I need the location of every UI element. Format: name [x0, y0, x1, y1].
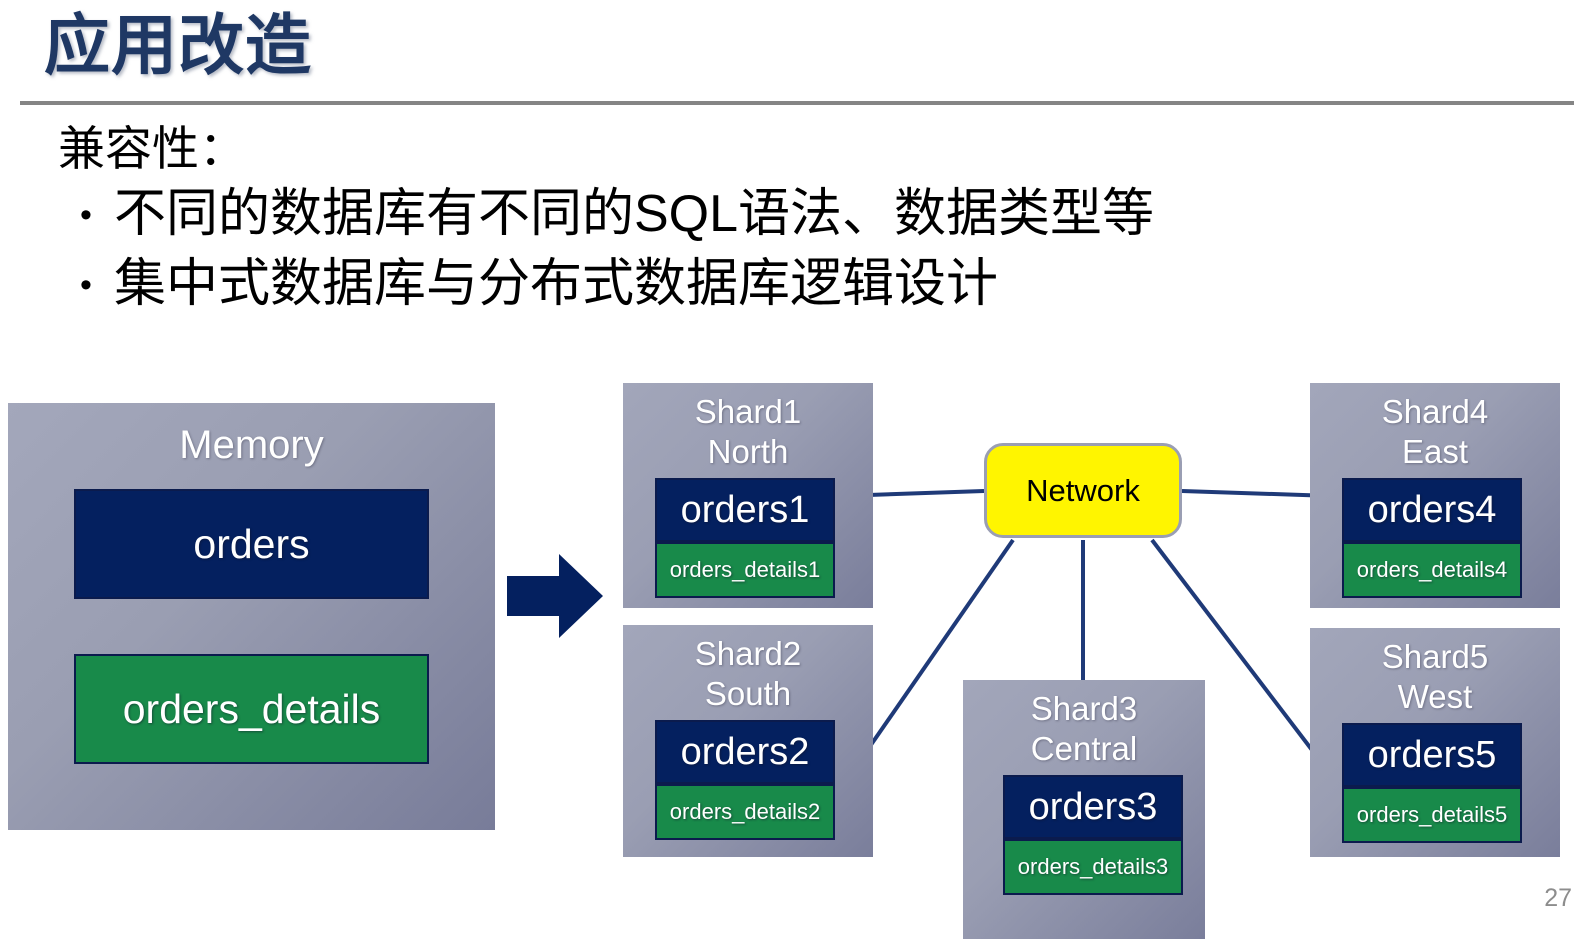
shard-box-shard5: Shard5 West orders5 orders_details5 — [1310, 628, 1560, 857]
table-orders-details4: orders_details4 — [1342, 542, 1522, 598]
table-orders-details: orders_details — [74, 654, 429, 764]
table-orders-details3: orders_details3 — [1003, 839, 1183, 895]
shard5-title: Shard5 — [1310, 628, 1560, 677]
shard3-region: Central — [963, 729, 1205, 769]
shard1-region: North — [623, 432, 873, 472]
table-orders-details5: orders_details5 — [1342, 787, 1522, 843]
page-title: 应用改造 — [44, 2, 312, 88]
shard1-title: Shard1 — [623, 383, 873, 432]
lead-text: 兼容性： — [58, 118, 1458, 180]
shard2-title: Shard2 — [623, 625, 873, 674]
bullet-label: 不同的数据库有不同的SQL语法、数据类型等 — [114, 180, 1154, 248]
shard-box-shard2: Shard2 South orders2 orders_details2 — [623, 625, 873, 857]
slide-canvas: 应用改造 兼容性： • 不同的数据库有不同的SQL语法、数据类型等 • 集中式数… — [0, 0, 1594, 939]
shard2-region: South — [623, 674, 873, 714]
bullet-label: 集中式数据库与分布式数据库逻辑设计 — [114, 250, 998, 318]
memory-caption: Memory — [8, 403, 495, 471]
bullet-marker-icon: • — [58, 250, 114, 320]
shard5-region: West — [1310, 677, 1560, 717]
table-orders2: orders2 — [655, 720, 835, 784]
network-label: Network — [1026, 473, 1140, 509]
title-divider — [20, 101, 1574, 105]
table-orders4: orders4 — [1342, 478, 1522, 542]
table-orders5: orders5 — [1342, 723, 1522, 787]
right-arrow-icon — [507, 552, 603, 640]
table-orders3: orders3 — [1003, 775, 1183, 839]
shard3-title: Shard3 — [963, 680, 1205, 729]
sharding-diagram: Memory orders orders_details Shard1 Nort… — [0, 360, 1594, 939]
shard4-region: East — [1310, 432, 1560, 472]
body-copy: 兼容性： • 不同的数据库有不同的SQL语法、数据类型等 • 集中式数据库与分布… — [58, 118, 1458, 320]
memory-box: Memory orders orders_details — [8, 403, 495, 830]
table-orders-details2: orders_details2 — [655, 784, 835, 840]
table-orders1: orders1 — [655, 478, 835, 542]
network-node: Network — [984, 443, 1182, 538]
shard-box-shard1: Shard1 North orders1 orders_details1 — [623, 383, 873, 608]
shard-box-shard4: Shard4 East orders4 orders_details4 — [1310, 383, 1560, 608]
page-number: 27 — [1544, 884, 1572, 913]
table-orders: orders — [74, 489, 429, 599]
shard4-title: Shard4 — [1310, 383, 1560, 432]
bullet-marker-icon: • — [58, 180, 114, 250]
bullet-item-1: • 不同的数据库有不同的SQL语法、数据类型等 — [58, 180, 1458, 250]
bullet-item-2: • 集中式数据库与分布式数据库逻辑设计 — [58, 250, 1458, 320]
table-orders-details1: orders_details1 — [655, 542, 835, 598]
shard-box-shard3: Shard3 Central orders3 orders_details3 — [963, 680, 1205, 939]
